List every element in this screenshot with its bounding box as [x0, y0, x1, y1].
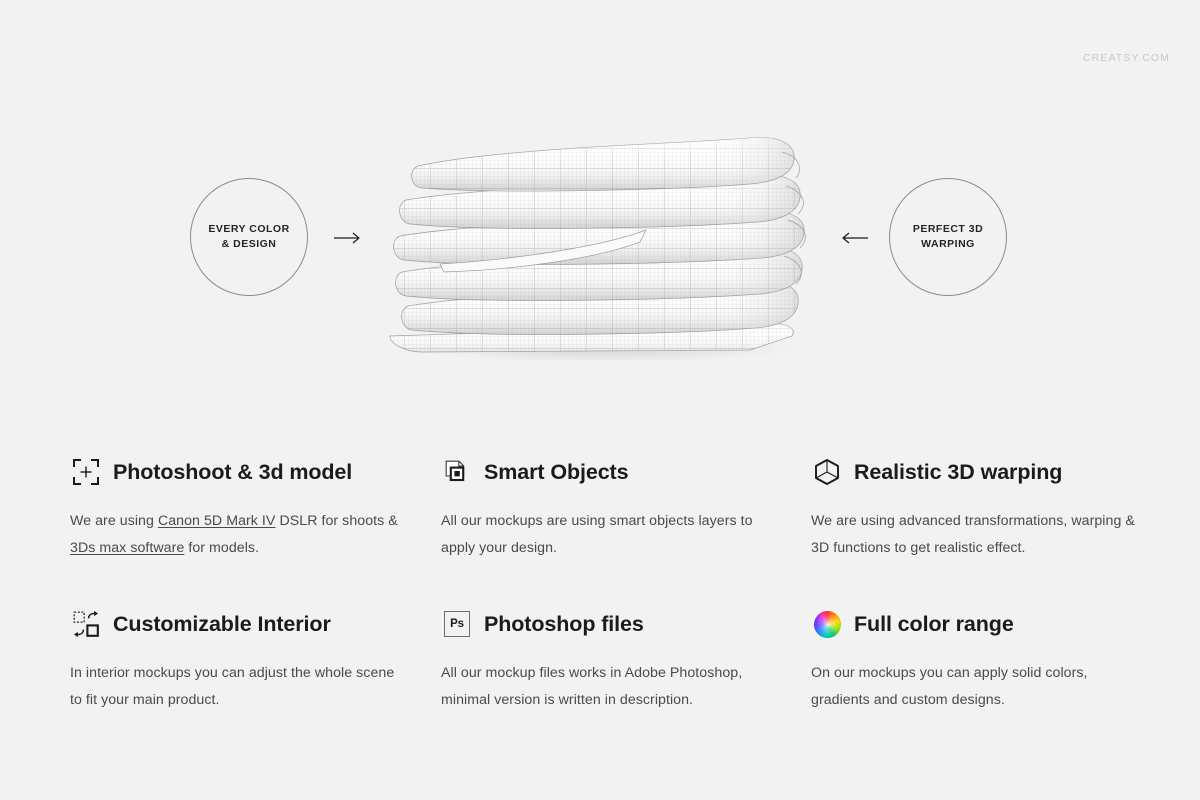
every-color-badge-label: EVERY COLOR & DESIGN	[208, 222, 289, 252]
camera-model-link[interactable]: Canon 5D Mark IV	[158, 513, 276, 529]
feature-title: Full color range	[854, 612, 1014, 637]
viewfinder-focus-icon	[70, 456, 102, 488]
feature-body: We are using advanced transformations, w…	[811, 508, 1141, 562]
software-link[interactable]: 3Ds max software	[70, 540, 184, 556]
folded-cloth-stack-mockup	[378, 108, 824, 360]
color-wheel-icon	[811, 608, 843, 640]
perfect-3d-badge: PERFECT 3D WARPING	[889, 178, 1007, 296]
feature-title: Smart Objects	[484, 460, 628, 485]
cube-3d-icon	[811, 456, 843, 488]
feature-body: All our mockups are using smart objects …	[441, 508, 771, 562]
feature-body: All our mockup files works in Adobe Phot…	[441, 660, 771, 714]
feature-3d-warping: Realistic 3D warping We are using advanc…	[811, 452, 1141, 562]
feature-photoshop-files: Ps Photoshop files All our mockup files …	[441, 604, 771, 714]
feature-header: Customizable Interior	[70, 604, 400, 644]
perfect-3d-badge-label: PERFECT 3D WARPING	[913, 222, 983, 252]
feature-title: Customizable Interior	[113, 612, 331, 637]
smart-object-layers-icon	[441, 456, 473, 488]
hero-section: EVERY COLOR & DESIGN	[0, 0, 1200, 420]
swap-objects-icon	[70, 608, 102, 640]
feature-photoshoot: Photoshoot & 3d model We are using Canon…	[70, 452, 400, 562]
features-section: Photoshoot & 3d model We are using Canon…	[0, 452, 1200, 800]
ps-badge-box: Ps	[444, 611, 470, 637]
feature-body-part: DSLR for shoots &	[275, 513, 397, 529]
arrow-right-icon	[334, 230, 362, 246]
feature-full-color-range: Full color range On our mockups you can …	[811, 604, 1141, 714]
feature-title: Photoshop files	[484, 612, 644, 637]
feature-customizable-interior: Customizable Interior In interior mockup…	[70, 604, 400, 714]
feature-header: Photoshoot & 3d model	[70, 452, 400, 492]
feature-header: Full color range	[811, 604, 1141, 644]
feature-body: In interior mockups you can adjust the w…	[70, 660, 400, 714]
feature-body: We are using Canon 5D Mark IV DSLR for s…	[70, 508, 400, 562]
photoshop-ps-icon: Ps	[441, 608, 473, 640]
feature-header: Ps Photoshop files	[441, 604, 771, 644]
feature-body-part: We are using	[70, 513, 158, 529]
feature-body-part: for models.	[184, 540, 259, 556]
feature-body: On our mockups you can apply solid color…	[811, 660, 1141, 714]
ps-badge-label: Ps	[450, 618, 464, 630]
every-color-badge: EVERY COLOR & DESIGN	[190, 178, 308, 296]
color-wheel-disc	[814, 611, 841, 638]
feature-title: Photoshoot & 3d model	[113, 460, 352, 485]
feature-header: Smart Objects	[441, 452, 771, 492]
feature-header: Realistic 3D warping	[811, 452, 1141, 492]
feature-smart-objects: Smart Objects All our mockups are using …	[441, 452, 771, 562]
feature-title: Realistic 3D warping	[854, 460, 1062, 485]
arrow-left-icon	[840, 230, 868, 246]
